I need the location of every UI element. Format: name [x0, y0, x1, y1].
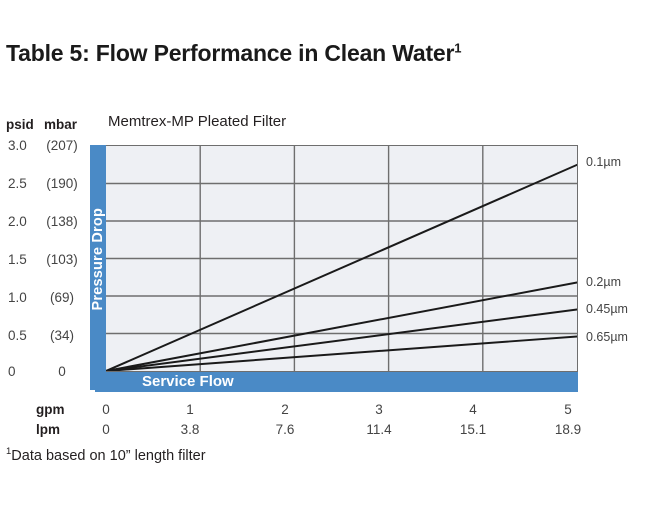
x-axis-unit-gpm: gpm [36, 402, 65, 417]
y-tick-mbar: 0 [40, 364, 84, 379]
y-tick-row: 0.5 (34) [0, 328, 86, 344]
series-lines [106, 165, 577, 371]
chart-plot-area [106, 145, 578, 372]
page-title-text: Table 5: Flow Performance in Clean Water [6, 40, 454, 66]
series-label-0-45um: 0.45µm [586, 302, 628, 316]
page-title: Table 5: Flow Performance in Clean Water… [6, 40, 461, 67]
y-tick-psid: 3.0 [8, 138, 40, 153]
x-axis-unit-lpm: lpm [36, 422, 60, 437]
y-tick-row: 1.5 (103) [0, 252, 86, 268]
y-tick-mbar: (103) [40, 252, 84, 267]
y-tick-row: 3.0 (207) [0, 138, 86, 154]
y-axis-unit-mbar: mbar [44, 117, 77, 132]
y-tick-mbar: (138) [40, 214, 84, 229]
x-tick-gpm: 4 [443, 402, 503, 417]
chart-svg [106, 146, 577, 371]
x-tick-gpm: 5 [538, 402, 598, 417]
y-axis-unit-headers: psidmbar [6, 117, 77, 132]
series-label-0-2um: 0.2µm [586, 275, 621, 289]
x-tick-gpm: 1 [160, 402, 220, 417]
y-tick-psid: 1.5 [8, 252, 40, 267]
y-tick-psid: 0 [8, 364, 40, 379]
chart-subtitle: Memtrex-MP Pleated Filter [108, 113, 286, 130]
y-tick-psid: 2.0 [8, 214, 40, 229]
pressure-drop-band-label: Pressure Drop [90, 145, 106, 373]
y-tick-psid: 0.5 [8, 328, 40, 343]
x-axis-row-lpm: lpm 0 3.8 7.6 11.4 15.1 18.9 [0, 422, 650, 439]
x-tick-gpm: 2 [255, 402, 315, 417]
y-tick-row: 1.0 (69) [0, 290, 86, 306]
x-tick-gpm: 3 [349, 402, 409, 417]
y-axis-unit-psid: psid [6, 117, 44, 132]
x-tick-gpm: 0 [76, 402, 136, 417]
y-tick-mbar: (69) [40, 290, 84, 305]
series-label-0-65um: 0.65µm [586, 330, 628, 344]
horizontal-gridlines [106, 183, 577, 333]
series-line-0-65um [106, 337, 577, 371]
y-tick-psid: 1.0 [8, 290, 40, 305]
y-tick-mbar: (207) [40, 138, 84, 153]
pressure-drop-text: Pressure Drop [90, 208, 106, 311]
series-label-0-1um: 0.1µm [586, 155, 621, 169]
y-tick-row: 0 0 [0, 364, 86, 380]
x-tick-lpm: 7.6 [255, 422, 315, 437]
x-tick-lpm: 18.9 [538, 422, 598, 437]
y-tick-psid: 2.5 [8, 176, 40, 191]
x-tick-lpm: 3.8 [160, 422, 220, 437]
y-tick-row: 2.0 (138) [0, 214, 86, 230]
x-tick-lpm: 15.1 [443, 422, 503, 437]
y-tick-mbar: (34) [40, 328, 84, 343]
y-tick-mbar: (190) [40, 176, 84, 191]
page-title-superscript: 1 [454, 40, 461, 55]
footnote-text: Data based on 10” length filter [11, 448, 205, 464]
y-tick-row: 2.5 (190) [0, 176, 86, 192]
x-tick-lpm: 11.4 [349, 422, 409, 437]
x-tick-lpm: 0 [76, 422, 136, 437]
service-flow-band-label: Service Flow [142, 373, 234, 390]
footnote: 1Data based on 10” length filter [6, 446, 206, 464]
x-axis-row-gpm: gpm 0 1 2 3 4 5 [0, 402, 650, 419]
